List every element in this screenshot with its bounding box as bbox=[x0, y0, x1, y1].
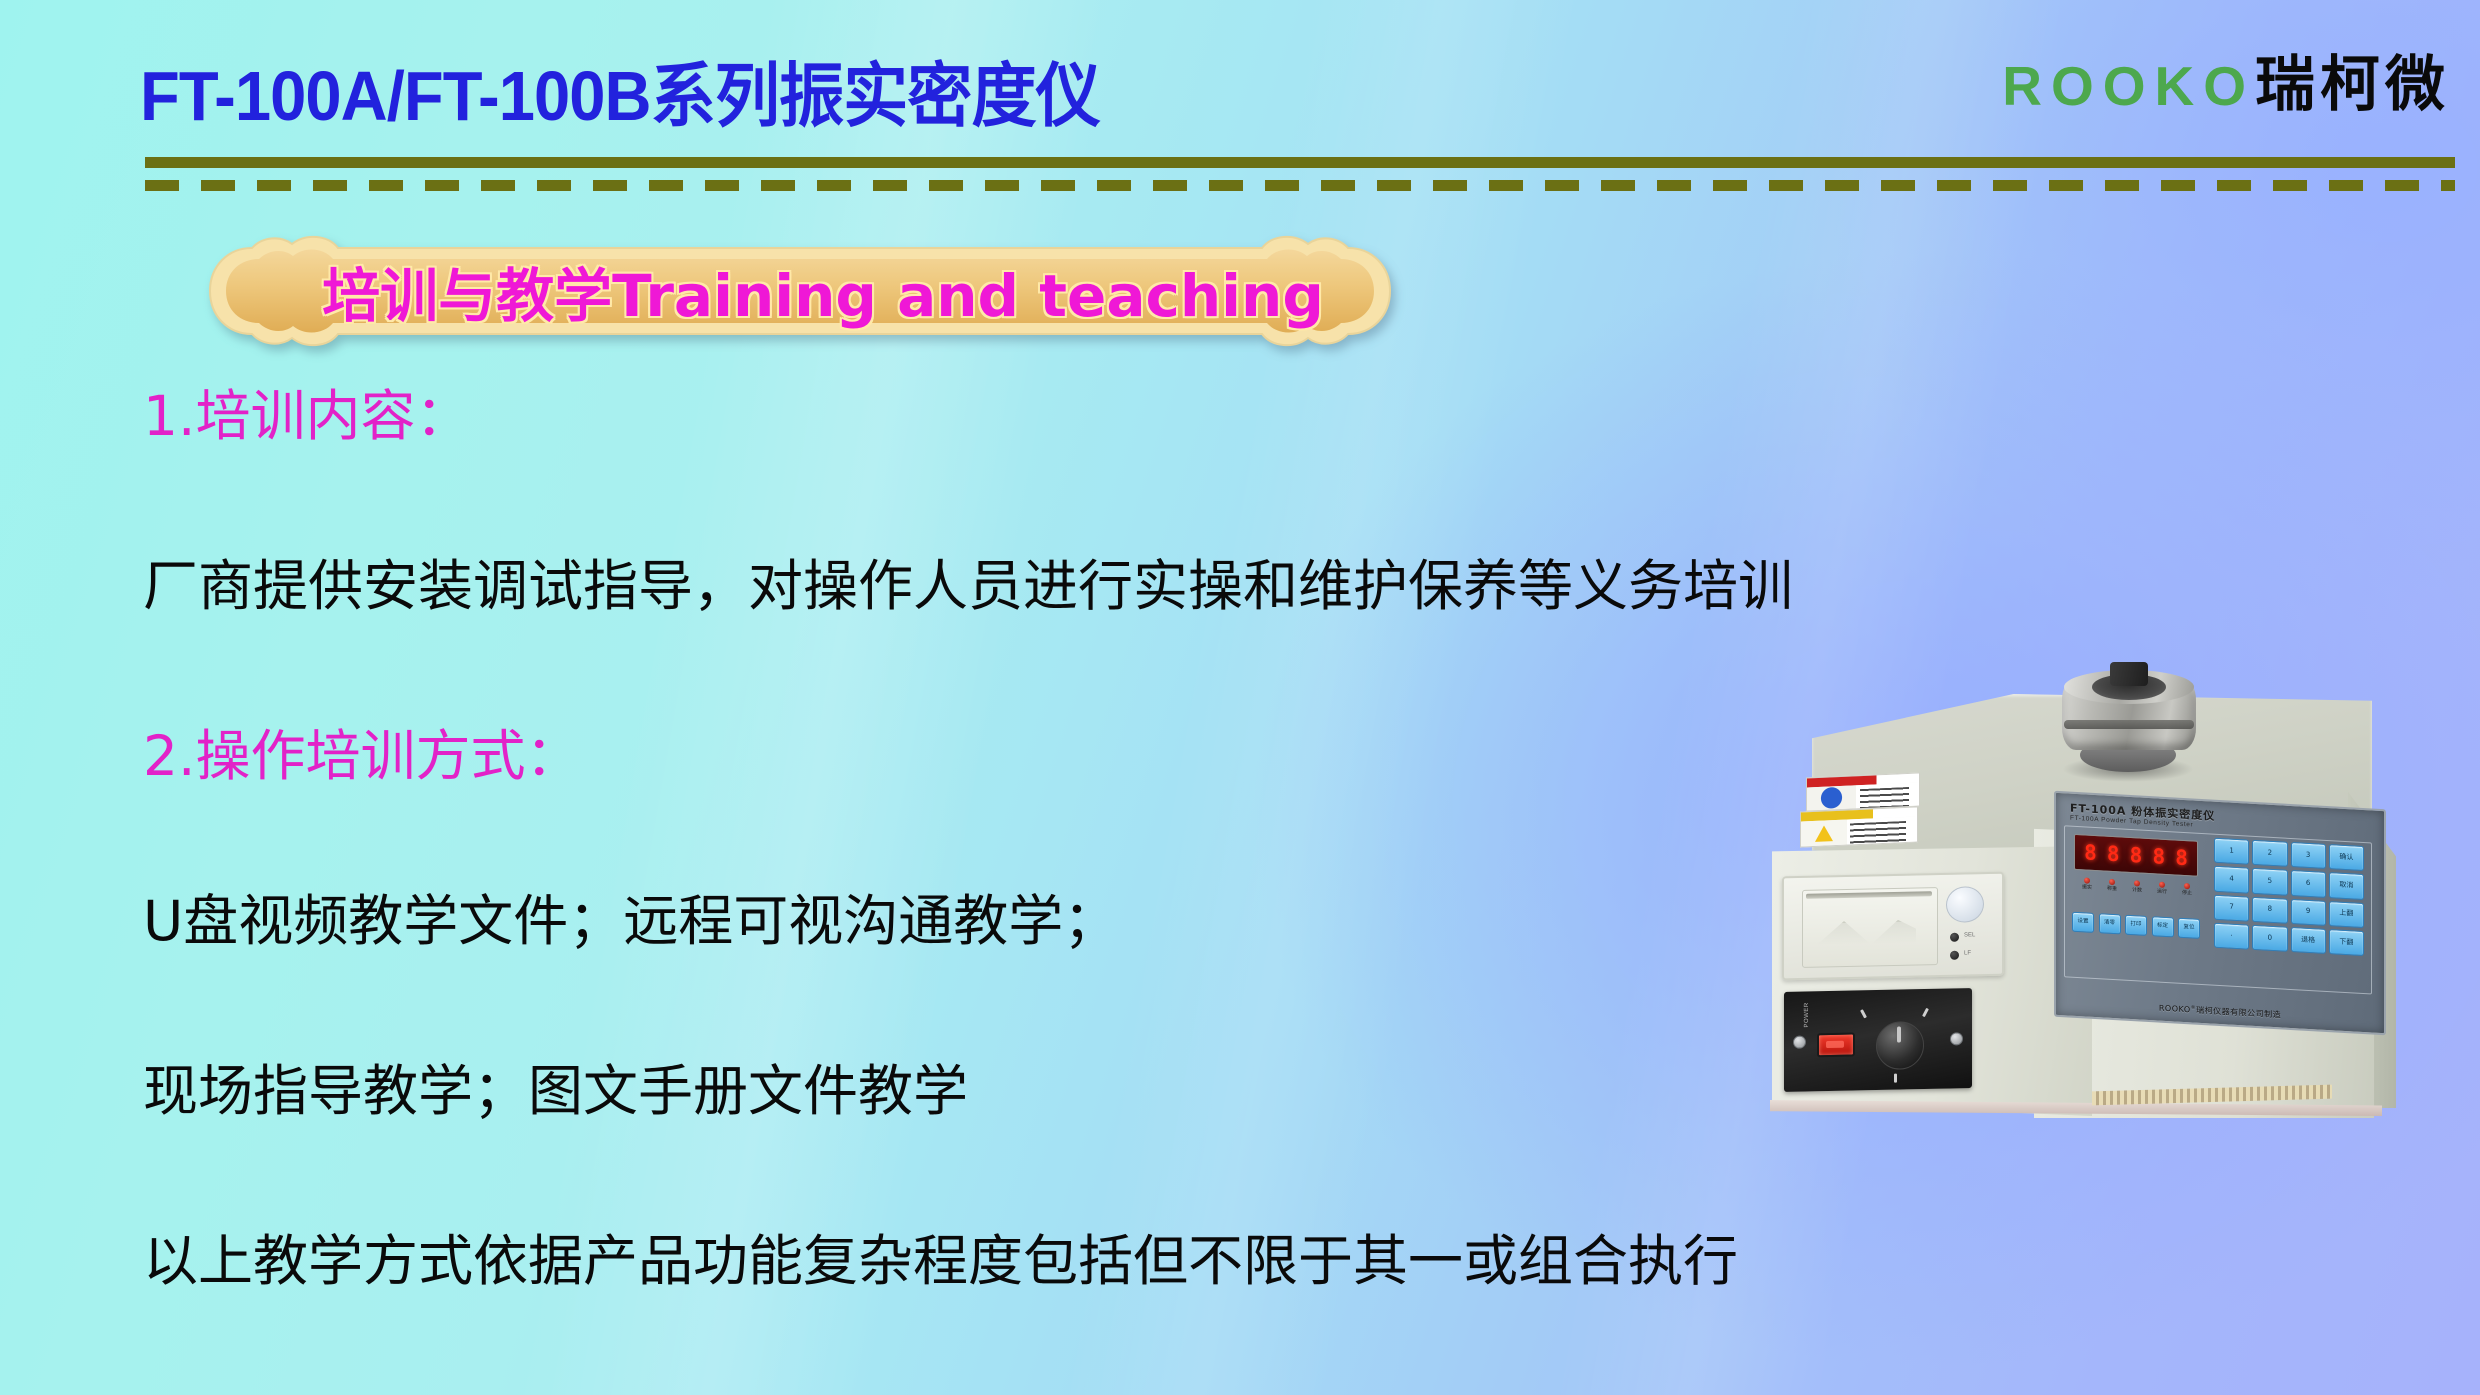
warning-label-yellow bbox=[1800, 806, 1918, 847]
brand-cjk-text: 瑞柯微 bbox=[2255, 50, 2450, 120]
keypad-key[interactable]: 退格 bbox=[2291, 927, 2326, 954]
tap-density-tester-illustration: SEL LF POWER FT-100A 粉体振实密度仪 FT-100A Pow… bbox=[1762, 648, 2480, 1148]
power-rocker-switch[interactable] bbox=[1817, 1032, 1855, 1057]
keypad-key[interactable]: 取消 bbox=[2329, 872, 2364, 899]
keypad-key[interactable]: 下翻 bbox=[2329, 929, 2364, 956]
keypad-key[interactable]: 9 bbox=[2291, 898, 2326, 925]
printer-sel-led bbox=[1950, 933, 1959, 942]
status-led bbox=[2109, 879, 2115, 885]
function-key[interactable]: 标定 bbox=[2152, 916, 2174, 937]
function-key[interactable]: 清零 bbox=[2099, 913, 2121, 934]
led-digit: 8 bbox=[2107, 843, 2120, 865]
printer-sel-led-label: SEL bbox=[1964, 932, 1975, 938]
status-label: 停止 bbox=[2176, 891, 2198, 897]
led-digit: 8 bbox=[2152, 846, 2165, 868]
warning-yellow-body bbox=[1801, 816, 1917, 846]
status-indicator: 称重 bbox=[2101, 878, 2123, 903]
status-label: 计数 bbox=[2126, 888, 2148, 894]
status-label: 振实 bbox=[2076, 885, 2098, 891]
status-indicator: 振实 bbox=[2076, 877, 2098, 902]
brand-logo: ROOKO瑞柯微 bbox=[2002, 36, 2450, 123]
knob-tick-bottom bbox=[1894, 1074, 1897, 1083]
keypad-key[interactable]: 5 bbox=[2252, 868, 2287, 895]
keypad-key[interactable]: 0 bbox=[2252, 925, 2287, 952]
power-panel-screw-right bbox=[1950, 1032, 1963, 1045]
vibration-head-post bbox=[2110, 662, 2148, 686]
keypad-key[interactable]: 7 bbox=[2214, 894, 2249, 921]
keypad-key[interactable]: 6 bbox=[2291, 870, 2326, 897]
thermal-printer-module[interactable]: SEL LF bbox=[1782, 872, 2004, 981]
vibration-head-groove bbox=[2064, 720, 2194, 729]
led-digit: 8 bbox=[2084, 842, 2097, 864]
keypad-key[interactable]: 1 bbox=[2214, 838, 2249, 865]
content-heading-2: 2.操作培训方式： bbox=[143, 711, 580, 791]
status-led bbox=[2084, 877, 2090, 883]
function-key[interactable]: 打印 bbox=[2125, 915, 2147, 936]
slide-canvas: FT-100A/FT-100B系列振实密度仪 ROOKO瑞柯微 培训与教学Tra… bbox=[0, 0, 2480, 1395]
led-digit: 8 bbox=[2175, 847, 2188, 869]
printer-lf-led-label: LF bbox=[1964, 950, 1971, 956]
printer-paper-door[interactable] bbox=[1802, 887, 1938, 968]
keypad-key[interactable]: 3 bbox=[2291, 842, 2326, 869]
power-panel-screw-left bbox=[1793, 1036, 1806, 1049]
hazard-triangle-icon bbox=[1801, 820, 1847, 847]
keypad-key[interactable]: 确认 bbox=[2329, 844, 2364, 871]
status-indicator: 计数 bbox=[2126, 880, 2148, 905]
product-photo: SEL LF POWER FT-100A 粉体振实密度仪 FT-100A Pow… bbox=[1762, 648, 2480, 1148]
function-key[interactable]: 复位 bbox=[2178, 918, 2200, 939]
content-paragraph-2: U盘视频教学文件；远程可视沟通教学； bbox=[143, 876, 1118, 956]
status-led bbox=[2134, 880, 2140, 886]
status-indicator: 运行 bbox=[2151, 881, 2173, 906]
control-panel: FT-100A 粉体振实密度仪 FT-100A Powder Tap Densi… bbox=[2054, 791, 2386, 1036]
warning-yellow-text-block bbox=[1847, 816, 1917, 844]
keypad-key[interactable]: · bbox=[2214, 922, 2249, 949]
section-banner-label: 培训与教学Training and teaching bbox=[140, 232, 1460, 350]
power-panel: POWER bbox=[1784, 988, 1972, 1092]
status-label: 称重 bbox=[2101, 886, 2123, 892]
keypad-key[interactable]: 8 bbox=[2252, 896, 2287, 923]
keypad-key[interactable]: 上翻 bbox=[2329, 901, 2364, 928]
manufacturer-latin: ROOKO bbox=[2159, 1004, 2191, 1015]
amplitude-knob[interactable] bbox=[1876, 1021, 1924, 1070]
status-led bbox=[2184, 883, 2190, 889]
content-paragraph-3: 现场指导教学；图文手册文件教学 bbox=[143, 1046, 968, 1126]
status-indicator: 停止 bbox=[2176, 883, 2198, 908]
keypad-key[interactable]: 2 bbox=[2252, 840, 2287, 867]
printer-open-button[interactable] bbox=[1946, 886, 1984, 923]
mandatory-action-icon bbox=[1807, 785, 1856, 810]
warning-label-red bbox=[1806, 773, 1920, 812]
numeric-keypad: 1 2 3 确认 4 5 6 取消 7 8 9 上翻 · 0 退格 下翻 bbox=[2214, 838, 2362, 954]
manufacturer-cjk: 瑞柯仪器有限公司制造 bbox=[2196, 1006, 2281, 1020]
knob-tick-right bbox=[1922, 1008, 1929, 1017]
led-display: 8 8 8 8 8 bbox=[2074, 834, 2198, 877]
header-divider-dashed bbox=[145, 180, 2455, 191]
status-led bbox=[2159, 882, 2165, 888]
power-switch-label: POWER bbox=[1804, 1002, 1810, 1027]
knob-tick-left bbox=[1860, 1009, 1867, 1018]
brand-latin-text: ROOKO bbox=[2002, 55, 2255, 117]
content-paragraph-4: 以上教学方式依据产品功能复杂程度包括但不限于其一或组合执行 bbox=[143, 1216, 1738, 1296]
content-paragraph-1: 厂商提供安装调试指导，对操作人员进行实操和维护保养等义务培训 bbox=[143, 541, 1793, 621]
page-title: FT-100A/FT-100B系列振实密度仪 bbox=[140, 40, 1100, 141]
header-divider-solid bbox=[145, 157, 2455, 168]
content-heading-1: 1.培训内容： bbox=[143, 371, 470, 451]
function-key[interactable]: 设置 bbox=[2072, 912, 2094, 933]
led-digit: 8 bbox=[2130, 844, 2143, 866]
status-label: 运行 bbox=[2151, 889, 2173, 895]
printer-lf-led bbox=[1950, 951, 1959, 960]
warning-red-text-block bbox=[1856, 783, 1919, 809]
section-banner: 培训与教学Training and teaching bbox=[140, 232, 1460, 350]
keypad-key[interactable]: 4 bbox=[2214, 866, 2249, 893]
